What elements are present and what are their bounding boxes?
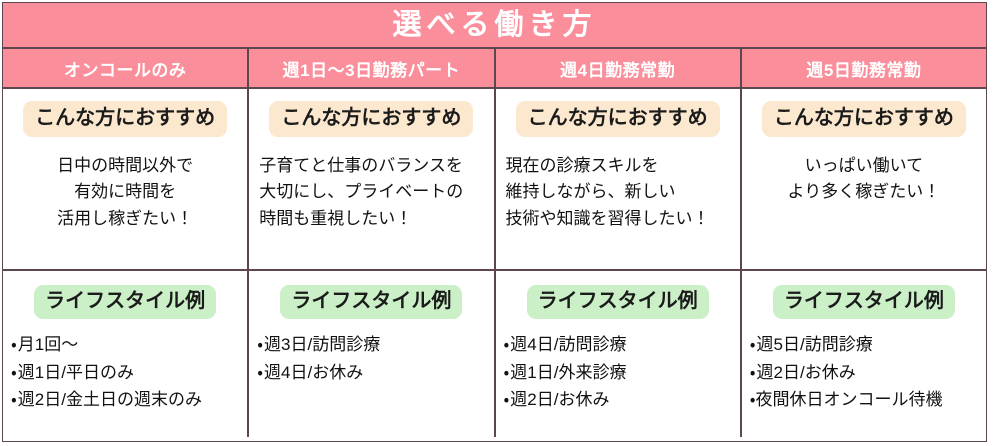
list-item-label: 月1回〜	[18, 335, 78, 354]
list-item: ・週2日/金土日の週末のみ	[11, 386, 239, 414]
list-item: ・夜間休日オンコール待機	[750, 386, 978, 414]
list-item-label: 週5日/訪問診療	[757, 335, 873, 354]
lifestyle-row: ライフスタイル例 ・月1回〜 ・週1日/平日のみ ・週2日/金土日の週末のみ ラ…	[3, 271, 986, 437]
lifestyle-list-3: ・週4日/訪問診療 ・週1日/外来診療 ・週2日/お休み	[504, 331, 732, 414]
bullet-icon: ・	[257, 335, 263, 354]
column-header-label: 週4日勤務常勤	[560, 56, 675, 81]
lifestyle-list-2: ・週3日/訪問診療 ・週4日/お休み	[257, 331, 485, 386]
recommendation-text-3: 現在の診療スキルを 維持しながら、新しい 技術や知識を習得したい！	[506, 153, 730, 232]
column-header-cell-1: オンコールのみ	[3, 49, 249, 87]
bullet-icon: ・	[504, 363, 510, 382]
column-header-label: 週5日勤務常勤	[806, 56, 921, 81]
recommendation-text-1: 日中の時間以外で 有効に時間を 活用し稼ぎたい！	[13, 153, 237, 232]
lifestyle-badge: ライフスタイル例	[34, 285, 216, 319]
column-header-cell-2: 週1日〜3日勤務パート	[249, 49, 495, 87]
recommendation-cell-1: こんな方におすすめ 日中の時間以外で 有効に時間を 活用し稼ぎたい！	[3, 89, 249, 269]
list-item: ・週4日/訪問診療	[504, 331, 732, 359]
list-item-label: 週4日/お休み	[264, 363, 363, 382]
recommendation-cell-2: こんな方におすすめ 子育てと仕事のバランスを 大切にし、プライベートの 時間も重…	[249, 89, 495, 269]
bullet-icon: ・	[11, 335, 17, 354]
list-item: ・週1日/平日のみ	[11, 359, 239, 387]
recommendation-line: 現在の診療スキルを	[506, 153, 730, 179]
lifestyle-badge: ライフスタイル例	[280, 285, 462, 319]
recommendation-line: 子育てと仕事のバランスを	[259, 153, 483, 179]
list-item-label: 週2日/お休み	[510, 390, 609, 409]
column-header-cell-3: 週4日勤務常勤	[496, 49, 742, 87]
list-item-label: 週3日/訪問診療	[264, 335, 380, 354]
list-item-label: ・夜間休日オンコール待機	[750, 390, 943, 409]
recommendation-line: 技術や知識を習得したい！	[506, 206, 730, 232]
recommendation-line: 有効に時間を	[13, 179, 237, 205]
lifestyle-cell-1: ライフスタイル例 ・月1回〜 ・週1日/平日のみ ・週2日/金土日の週末のみ	[3, 271, 249, 437]
lifestyle-list-4: ・週5日/訪問診療 ・週2日/お休み ・夜間休日オンコール待機	[750, 331, 978, 414]
table-title-band: 選べる働き方	[3, 3, 986, 49]
recommend-badge: こんな方におすすめ	[516, 101, 720, 137]
list-item: ・週3日/訪問診療	[257, 331, 485, 359]
column-header-row: オンコールのみ 週1日〜3日勤務パート 週4日勤務常勤 週5日勤務常勤	[3, 49, 986, 89]
list-item: ・週5日/訪問診療	[750, 331, 978, 359]
list-item: ・週2日/お休み	[750, 359, 978, 387]
bullet-icon: ・	[11, 363, 17, 382]
list-item: ・週2日/お休み	[504, 386, 732, 414]
bullet-icon: ・	[750, 335, 756, 354]
recommendation-line: 日中の時間以外で	[13, 153, 237, 179]
recommendation-line: いっぱい働いて	[752, 153, 976, 179]
bullet-icon: ・	[11, 390, 17, 409]
column-header-cell-4: 週5日勤務常勤	[742, 49, 986, 87]
bullet-icon: ・	[257, 363, 263, 382]
lifestyle-cell-4: ライフスタイル例 ・週5日/訪問診療 ・週2日/お休み ・夜間休日オンコール待機	[742, 271, 986, 437]
bullet-icon: ・	[504, 390, 510, 409]
list-item-label: 週1日/外来診療	[510, 363, 626, 382]
lifestyle-badge: ライフスタイル例	[773, 285, 955, 319]
recommendation-cell-3: こんな方におすすめ 現在の診療スキルを 維持しながら、新しい 技術や知識を習得し…	[496, 89, 742, 269]
list-item: ・週1日/外来診療	[504, 359, 732, 387]
recommend-badge: こんな方におすすめ	[269, 101, 473, 137]
list-item: ・月1回〜	[11, 331, 239, 359]
work-style-comparison-table: 選べる働き方 オンコールのみ 週1日〜3日勤務パート 週4日勤務常勤 週5日勤務…	[2, 2, 987, 442]
list-item-label: 週2日/金土日の週末のみ	[18, 390, 202, 409]
bullet-icon: ・	[750, 363, 756, 382]
recommendation-row: こんな方におすすめ 日中の時間以外で 有効に時間を 活用し稼ぎたい！ こんな方に…	[3, 89, 986, 271]
bullet-icon: ・	[504, 335, 510, 354]
page-title: 選べる働き方	[392, 11, 596, 40]
recommendation-text-4: いっぱい働いて より多く稼ぎたい！	[752, 153, 976, 206]
column-header-label: オンコールのみ	[64, 56, 187, 81]
lifestyle-list-1: ・月1回〜 ・週1日/平日のみ ・週2日/金土日の週末のみ	[11, 331, 239, 414]
list-item-label: 週2日/お休み	[757, 363, 856, 382]
recommendation-line: 大切にし、プライベートの	[259, 179, 483, 205]
list-item-label: 週1日/平日のみ	[18, 363, 134, 382]
recommendation-line: より多く稼ぎたい！	[752, 179, 976, 205]
lifestyle-badge: ライフスタイル例	[527, 285, 709, 319]
recommendation-line: 維持しながら、新しい	[506, 179, 730, 205]
list-item-label: 週4日/訪問診療	[510, 335, 626, 354]
lifestyle-cell-3: ライフスタイル例 ・週4日/訪問診療 ・週1日/外来診療 ・週2日/お休み	[496, 271, 742, 437]
lifestyle-cell-2: ライフスタイル例 ・週3日/訪問診療 ・週4日/お休み	[249, 271, 495, 437]
column-header-label: 週1日〜3日勤務パート	[283, 56, 460, 81]
recommendation-cell-4: こんな方におすすめ いっぱい働いて より多く稼ぎたい！	[742, 89, 986, 269]
recommendation-line: 時間も重視したい！	[259, 206, 483, 232]
recommend-badge: こんな方におすすめ	[23, 101, 227, 137]
recommend-badge: こんな方におすすめ	[762, 101, 966, 137]
list-item: ・週4日/お休み	[257, 359, 485, 387]
recommendation-text-2: 子育てと仕事のバランスを 大切にし、プライベートの 時間も重視したい！	[259, 153, 483, 232]
recommendation-line: 活用し稼ぎたい！	[13, 206, 237, 232]
